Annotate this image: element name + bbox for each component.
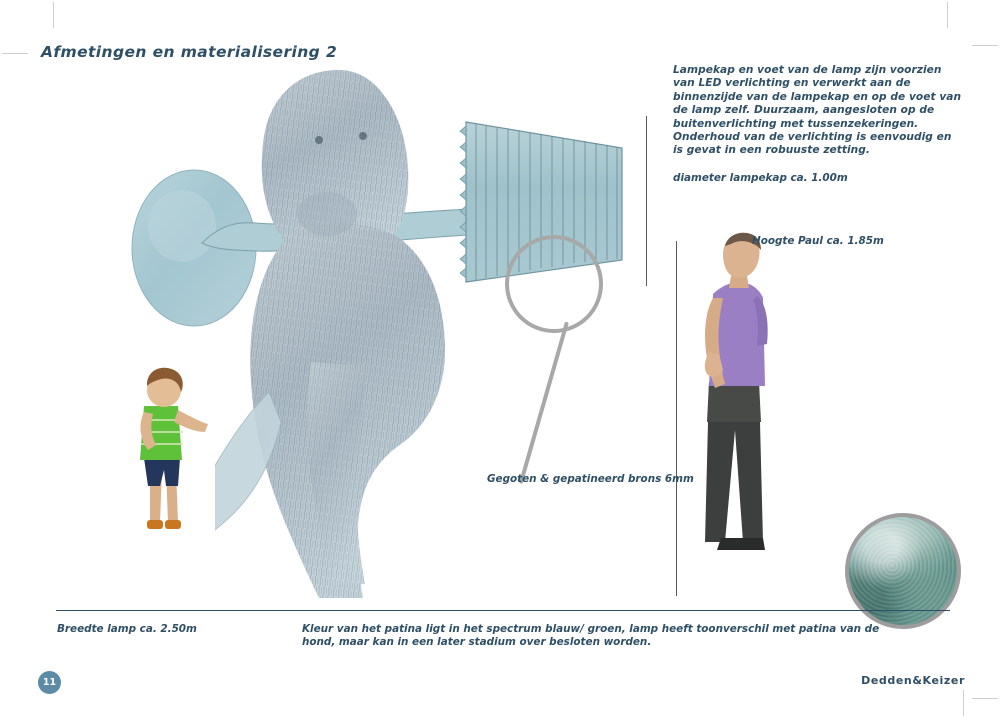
crop-mark-top-right-vertical [947, 2, 948, 28]
boy-scale-figure [124, 366, 210, 546]
crop-mark-top-left-horizontal [2, 53, 28, 54]
bottom-rule [56, 610, 950, 611]
paul-dimension-line [676, 241, 677, 596]
lighting-note: Lampekap en voet van de lamp zijn voorzi… [673, 64, 965, 158]
bronze-material-label: Gegoten & gepatineerd brons 6mm [487, 473, 694, 486]
patina-color-note: Kleur van het patina ligt in het spectru… [302, 623, 892, 649]
page-number-badge: 11 [38, 671, 61, 694]
detail-loupe-handle [519, 321, 569, 484]
lamp-width-label: Breedte lamp ca. 2.50m [57, 623, 197, 636]
page-title: Afmetingen en materialisering 2 [41, 43, 337, 61]
man-scale-figure [697, 232, 775, 577]
crop-mark-bottom-right-vertical [963, 690, 964, 716]
crop-mark-bottom-right-horizontal [972, 698, 998, 699]
detail-loupe-circle [505, 235, 603, 333]
crop-mark-top-left-vertical [53, 2, 54, 28]
paul-height-label: Hoogte Paul ca. 1.85m [752, 235, 884, 248]
brand-label: Dedden&Keizer [861, 674, 965, 687]
document-page: Afmetingen en materialisering 2 [0, 0, 1000, 717]
crop-mark-top-right-horizontal [972, 45, 998, 46]
patina-swatch [845, 513, 961, 629]
shade-dimension-line [646, 116, 647, 286]
shade-diameter-label: diameter lampekap ca. 1.00m [673, 172, 848, 185]
